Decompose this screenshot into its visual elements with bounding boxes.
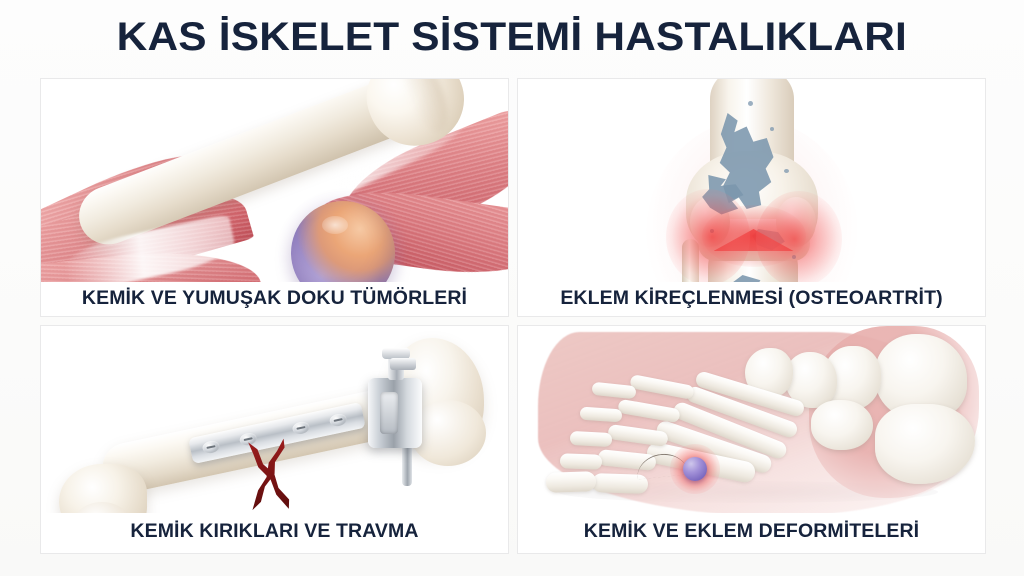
bunion-nodule-icon — [683, 457, 707, 481]
cartilage-speck-icon — [792, 255, 796, 259]
illustration-foot-deformity-bunion — [518, 326, 985, 513]
infographic-root: KAS İSKELET SİSTEMİ HASTALIKLARI KEMİK — [0, 0, 1024, 576]
card-caption: KEMİK VE EKLEM DEFORMİTELERİ — [518, 520, 985, 543]
plate-screw-icon — [201, 439, 220, 454]
card-kemik-kiriklari-ve-travma[interactable]: KEMİK KIRIKLARI VE TRAVMA — [40, 325, 509, 554]
phalanx-distal-3-icon — [570, 431, 613, 447]
fixator-pin-icon — [402, 444, 412, 486]
midfoot-bone-icon — [811, 400, 873, 450]
phalanx-distal-2-icon — [560, 453, 602, 469]
card-caption: KEMİK KIRIKLARI VE TRAVMA — [41, 520, 508, 543]
phalanx-distal-1-icon — [546, 471, 597, 493]
cartilage-speck-icon — [784, 169, 789, 173]
cartilage-speck-icon — [748, 101, 753, 106]
page-title-text: KAS İSKELET SİSTEMİ HASTALIKLARI — [117, 17, 907, 57]
page-title: KAS İSKELET SİSTEMİ HASTALIKLARI — [0, 8, 1024, 66]
illustration-knee-osteoarthritis — [518, 79, 985, 282]
cartilage-speck-icon — [770, 127, 774, 131]
card-eklem-kireclenmesi-osteoartrit[interactable]: EKLEM KİREÇLENMESİ (OSTEOARTRİT) — [517, 78, 986, 317]
illustration-bone-fracture-fixation — [41, 326, 508, 513]
card-kemik-ve-yumusak-doku-tumorleri[interactable]: KEMİK VE YUMUŞAK DOKU TÜMÖRLERİ — [40, 78, 509, 317]
disease-card-grid: KEMİK VE YUMUŞAK DOKU TÜMÖRLERİ — [40, 78, 986, 554]
fracture-line-icon — [241, 436, 303, 513]
card-caption: KEMİK VE YUMUŞAK DOKU TÜMÖRLERİ — [41, 287, 508, 310]
clamp-side-bolt-icon — [390, 358, 416, 370]
illustration-bone-soft-tissue-tumour — [41, 79, 508, 282]
external-fixator-clamp-icon — [368, 378, 422, 448]
card-kemik-ve-eklem-deformiteleri[interactable]: KEMİK VE EKLEM DEFORMİTELERİ — [517, 325, 986, 554]
plate-screw-icon — [329, 412, 348, 427]
clamp-jaw-icon — [380, 392, 398, 434]
cartilage-speck-icon — [710, 229, 714, 233]
fibula-icon — [682, 239, 699, 282]
calcaneus-bone-icon — [875, 404, 975, 484]
card-caption: EKLEM KİREÇLENMESİ (OSTEOARTRİT) — [518, 287, 985, 310]
plate-screw-icon — [291, 420, 310, 435]
